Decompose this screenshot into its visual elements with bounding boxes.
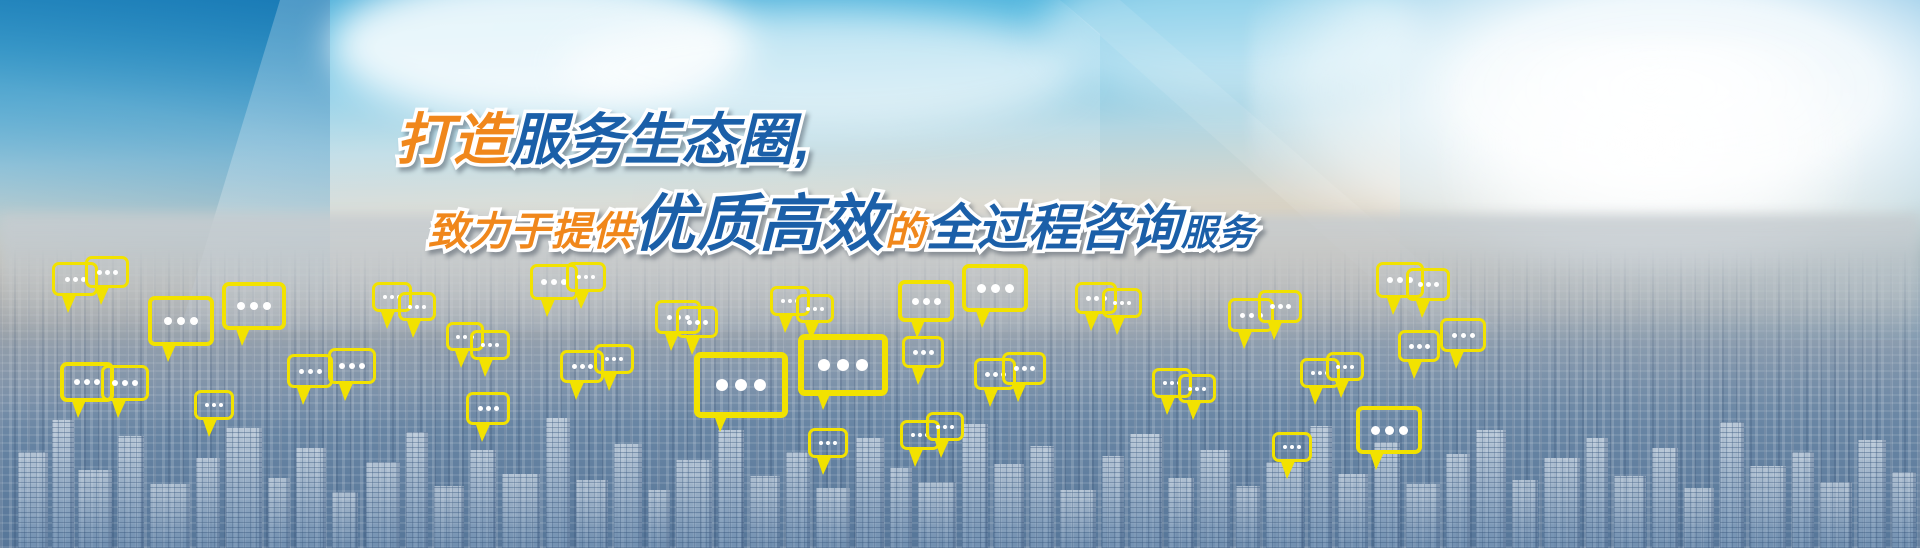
- speech-bubble-dot: [97, 270, 102, 275]
- speech-bubble-icon: [560, 350, 598, 377]
- speech-bubble-dot: [612, 357, 616, 361]
- speech-bubble-dot: [1278, 304, 1283, 309]
- speech-bubble-icon: [1440, 318, 1480, 346]
- building: [816, 488, 850, 548]
- speech-bubble-icon: [566, 262, 600, 286]
- building: [150, 484, 190, 548]
- speech-bubble-body: [962, 264, 1028, 312]
- speech-bubble-dot: [936, 425, 940, 429]
- speech-bubble-dot: [572, 364, 577, 369]
- speech-bubble-dot: [1022, 366, 1027, 371]
- speech-bubble-dot: [383, 295, 387, 299]
- speech-bubble-dot: [349, 363, 355, 369]
- speech-bubble-dot: [94, 379, 100, 385]
- speech-bubble-dot: [1409, 344, 1414, 349]
- building: [406, 432, 428, 548]
- speech-bubble-dot: [820, 307, 824, 311]
- building: [78, 470, 112, 548]
- speech-bubble-dot: [408, 305, 412, 309]
- speech-bubble-body: [1398, 330, 1440, 362]
- speech-bubble-dot: [754, 379, 766, 391]
- speech-bubble-icon: [328, 348, 370, 378]
- speech-bubble-icon: [1178, 374, 1210, 397]
- speech-bubble-body: [85, 256, 129, 288]
- speech-bubble-icon: [148, 296, 206, 338]
- speech-bubble-dot: [716, 379, 728, 391]
- building: [1792, 452, 1814, 548]
- headline-run: 致力于提供: [428, 212, 633, 252]
- headline-run: 服务生态圈,: [510, 112, 812, 168]
- speech-bubble-icon: [1102, 288, 1136, 312]
- speech-bubble-icon: [60, 362, 106, 394]
- building: [1446, 454, 1470, 548]
- building: [332, 492, 358, 548]
- speech-bubble-dot: [212, 403, 216, 407]
- building: [1544, 458, 1580, 548]
- speech-bubble-dot: [1005, 284, 1014, 293]
- building: [1406, 484, 1440, 548]
- speech-bubble-dot: [1249, 313, 1254, 318]
- building: [1586, 438, 1608, 548]
- speech-bubble-dot: [1336, 365, 1340, 369]
- speech-bubble-body: [926, 412, 964, 441]
- speech-bubble-body: [1102, 288, 1142, 318]
- speech-bubble-icon: [222, 282, 278, 322]
- speech-bubble-dot: [263, 302, 271, 310]
- building: [676, 460, 712, 548]
- building: [434, 486, 464, 548]
- speech-bubble-dot: [308, 369, 313, 374]
- speech-bubble-icon: [1258, 290, 1296, 317]
- speech-bubble-dot: [1399, 426, 1408, 435]
- speech-bubble-dot: [1371, 426, 1380, 435]
- speech-bubble-dot: [781, 299, 785, 303]
- speech-bubble-dot: [1434, 282, 1439, 287]
- speech-bubble-dot: [486, 406, 491, 411]
- speech-bubble-icon: [85, 256, 123, 282]
- building: [1750, 466, 1786, 548]
- speech-bubble-body: [594, 344, 634, 374]
- speech-bubble-dot: [463, 335, 467, 339]
- speech-bubble-dot: [299, 369, 304, 374]
- speech-bubble-icon: [1272, 432, 1306, 456]
- speech-bubble-dot: [1426, 282, 1431, 287]
- building: [856, 438, 884, 548]
- speech-bubble-body: [694, 352, 788, 418]
- speech-bubble-body: [398, 292, 436, 321]
- speech-bubble-icon: [594, 344, 628, 368]
- speech-bubble-dot: [605, 357, 609, 361]
- speech-bubble-dot: [912, 298, 919, 305]
- building: [648, 490, 670, 548]
- building: [962, 424, 988, 548]
- speech-bubble-dot: [488, 343, 492, 347]
- speech-bubble-dot: [494, 406, 499, 411]
- speech-bubble-body: [1326, 352, 1364, 381]
- speech-bubble-dot: [819, 441, 823, 445]
- speech-bubble-dot: [359, 363, 365, 369]
- speech-bubble-icon: [796, 294, 828, 317]
- speech-bubble-body: [798, 334, 888, 396]
- speech-bubble-body: [1356, 406, 1422, 454]
- speech-bubble-body: [902, 336, 944, 368]
- speech-bubble-dot: [826, 441, 830, 445]
- speech-bubble-dot: [985, 372, 990, 377]
- speech-bubble-body: [1272, 432, 1312, 462]
- speech-bubble-dot: [1297, 445, 1301, 449]
- speech-bubble-dot: [190, 317, 198, 325]
- building: [1338, 474, 1368, 548]
- speech-bubble-icon: [962, 264, 1020, 304]
- building: [502, 474, 540, 548]
- speech-bubble-dot: [943, 425, 947, 429]
- speech-bubble-dot: [132, 380, 138, 386]
- speech-bubble-dot: [1014, 366, 1019, 371]
- building: [1476, 430, 1506, 548]
- headline-run: 服务: [1181, 215, 1255, 251]
- speech-bubble-dot: [1120, 301, 1124, 305]
- speech-bubble-dot: [950, 425, 954, 429]
- speech-bubble-icon: [194, 390, 228, 414]
- speech-bubble-dot: [1397, 277, 1403, 283]
- speech-bubble-dot: [667, 315, 672, 320]
- speech-bubble-dot: [250, 302, 258, 310]
- building: [366, 462, 400, 548]
- speech-bubble-dot: [73, 277, 78, 282]
- speech-bubble-dot: [1425, 344, 1430, 349]
- speech-bubble-icon: [470, 330, 504, 354]
- speech-bubble-body: [287, 354, 333, 388]
- speech-bubble-icon: [101, 365, 143, 395]
- speech-bubble-body: [898, 280, 954, 322]
- speech-bubble-icon: [398, 292, 430, 315]
- speech-bubble-icon: [808, 428, 842, 452]
- speech-bubble-dot: [695, 320, 700, 325]
- building: [786, 452, 810, 548]
- speech-bubble-dot: [1461, 333, 1466, 338]
- speech-bubble-dot: [415, 305, 419, 309]
- speech-bubble-dot: [833, 441, 837, 445]
- speech-bubble-dot: [1470, 333, 1475, 338]
- speech-bubble-dot: [1094, 296, 1099, 301]
- speech-bubble-dot: [1387, 277, 1393, 283]
- speech-bubble-dot: [813, 307, 817, 311]
- building: [268, 478, 290, 548]
- speech-bubble-dot: [219, 403, 223, 407]
- building: [994, 464, 1024, 548]
- speech-bubble-dot: [1163, 381, 1167, 385]
- speech-bubble-dot: [105, 270, 110, 275]
- speech-bubble-body: [101, 365, 149, 401]
- speech-bubble-dot: [1113, 301, 1117, 305]
- building: [890, 468, 912, 548]
- speech-bubble-icon: [902, 336, 938, 362]
- speech-bubble-dot: [788, 299, 792, 303]
- speech-bubble-dot: [1350, 365, 1354, 369]
- speech-bubble-icon: [1398, 330, 1434, 356]
- speech-bubble-dot: [237, 302, 245, 310]
- building: [1236, 486, 1260, 548]
- building: [1130, 434, 1162, 548]
- speech-bubble-dot: [112, 380, 118, 386]
- speech-bubble-dot: [1086, 296, 1091, 301]
- speech-bubble-icon: [694, 352, 776, 406]
- building: [1652, 448, 1678, 548]
- speech-bubble-dot: [913, 350, 918, 355]
- headline-run: 优质高效: [633, 194, 885, 256]
- speech-bubble-dot: [1418, 282, 1423, 287]
- building: [1684, 488, 1714, 548]
- speech-bubble-dot: [551, 279, 557, 285]
- speech-bubble-body: [328, 348, 376, 384]
- headline-run: 全过程咨询: [926, 203, 1181, 253]
- speech-bubble-dot: [911, 433, 915, 437]
- speech-bubble-dot: [1170, 381, 1174, 385]
- building: [1858, 440, 1886, 548]
- speech-bubble-dot: [993, 372, 998, 377]
- speech-bubble-body: [194, 390, 234, 420]
- speech-bubble-icon: [898, 280, 946, 314]
- banner-root: 打造服务生态圈, 致力于提供优质高效的全过程咨询服务: [0, 0, 1920, 548]
- speech-bubble-dot: [1343, 365, 1347, 369]
- building: [1892, 472, 1916, 548]
- speech-bubble-dot: [481, 343, 485, 347]
- speech-bubble-dot: [591, 275, 595, 279]
- speech-bubble-dot: [856, 359, 868, 371]
- building: [576, 480, 608, 548]
- building: [226, 428, 262, 548]
- speech-bubble-dot: [619, 357, 623, 361]
- headline-run: 的: [885, 212, 926, 252]
- building: [1168, 478, 1194, 548]
- building: [52, 420, 74, 548]
- building: [1310, 426, 1332, 548]
- speech-bubble-dot: [205, 403, 209, 407]
- speech-bubble-dot: [818, 359, 830, 371]
- speech-bubble-dot: [1030, 366, 1035, 371]
- speech-bubble-dot: [1202, 387, 1206, 391]
- building: [614, 444, 642, 548]
- speech-bubble-body: [1002, 352, 1046, 385]
- speech-bubble-dot: [495, 343, 499, 347]
- building: [546, 418, 570, 548]
- speech-bubble-body: [466, 392, 510, 425]
- building: [1820, 482, 1852, 548]
- speech-bubble-dot: [584, 275, 588, 279]
- speech-bubble-dot: [339, 363, 345, 369]
- speech-bubble-dot: [390, 295, 394, 299]
- speech-bubble-icon: [1326, 352, 1358, 375]
- speech-bubble-body: [808, 428, 848, 458]
- speech-bubble-dot: [122, 380, 128, 386]
- speech-bubble-dot: [934, 298, 941, 305]
- speech-bubble-dot: [1385, 426, 1394, 435]
- speech-bubble-body: [1258, 290, 1302, 323]
- speech-bubble-dot: [1195, 387, 1199, 391]
- speech-bubble-dot: [456, 335, 460, 339]
- speech-bubble-dot: [541, 279, 547, 285]
- building: [296, 448, 326, 548]
- speech-bubble-dot: [923, 298, 930, 305]
- speech-bubble-dot: [806, 307, 810, 311]
- speech-bubble-dot: [1127, 301, 1131, 305]
- speech-bubble-icon: [287, 354, 327, 382]
- speech-bubble-body: [222, 282, 286, 330]
- page-title: 打造服务生态圈, 致力于提供优质高效的全过程咨询服务: [380, 112, 1140, 256]
- speech-bubble-dot: [1452, 333, 1457, 338]
- speech-bubble-dot: [991, 284, 1000, 293]
- speech-bubble-dot: [65, 277, 70, 282]
- speech-bubble-dot: [837, 359, 849, 371]
- speech-bubble-body: [1440, 318, 1486, 352]
- speech-bubble-dot: [703, 320, 708, 325]
- headline-line-1: 打造服务生态圈,: [380, 112, 1140, 168]
- building: [118, 436, 144, 548]
- speech-bubble-dot: [74, 379, 80, 385]
- speech-bubble-icon: [1406, 268, 1444, 295]
- speech-bubble-icon: [926, 412, 958, 435]
- building: [1614, 476, 1646, 548]
- speech-bubble-icon: [798, 334, 876, 384]
- speech-bubble-dot: [1240, 313, 1245, 318]
- speech-bubble-body: [470, 330, 510, 360]
- building: [918, 482, 956, 548]
- speech-bubble-dot: [422, 305, 426, 309]
- speech-bubble-dot: [577, 275, 581, 279]
- headline-line-2: 致力于提供优质高效的全过程咨询服务: [380, 194, 1140, 256]
- building: [1512, 480, 1538, 548]
- building: [18, 452, 48, 548]
- speech-bubble-icon: [676, 306, 712, 332]
- speech-bubble-body: [796, 294, 834, 323]
- speech-bubble-body: [148, 296, 214, 346]
- speech-bubble-body: [1406, 268, 1450, 301]
- speech-bubble-body: [566, 262, 606, 292]
- building: [1060, 490, 1096, 548]
- speech-bubble-icon: [1356, 406, 1414, 446]
- speech-bubble-dot: [164, 317, 172, 325]
- speech-bubble-body: [1178, 374, 1216, 403]
- building: [470, 450, 496, 548]
- speech-bubble-dot: [687, 320, 692, 325]
- speech-bubble-dot: [1318, 371, 1322, 375]
- speech-bubble-dot: [1290, 445, 1294, 449]
- speech-bubble-dot: [929, 350, 934, 355]
- speech-bubble-dot: [1286, 304, 1291, 309]
- building: [196, 458, 220, 548]
- speech-bubble-dot: [735, 379, 747, 391]
- speech-bubble-icon: [466, 392, 504, 419]
- speech-bubble-body: [676, 306, 718, 338]
- speech-bubble-dot: [113, 270, 118, 275]
- speech-bubble-dot: [1270, 304, 1275, 309]
- speech-bubble-dot: [177, 317, 185, 325]
- speech-bubble-dot: [921, 350, 926, 355]
- building: [1030, 446, 1054, 548]
- speech-bubble-dot: [1311, 371, 1315, 375]
- speech-bubble-dot: [1283, 445, 1287, 449]
- speech-bubble-dot: [478, 406, 483, 411]
- speech-bubble-dot: [317, 369, 322, 374]
- speech-bubble-dot: [588, 364, 593, 369]
- speech-bubble-icon: [1002, 352, 1040, 379]
- speech-bubble-dot: [1188, 387, 1192, 391]
- building: [1200, 450, 1230, 548]
- building: [718, 430, 744, 548]
- speech-bubble-dot: [84, 379, 90, 385]
- speech-bubble-dot: [1417, 344, 1422, 349]
- building: [1102, 456, 1124, 548]
- headline-run: 打造: [396, 112, 510, 168]
- speech-bubble-dot: [977, 284, 986, 293]
- speech-bubble-dot: [580, 364, 585, 369]
- building: [1720, 422, 1744, 548]
- speech-bubble-dot: [918, 433, 922, 437]
- building: [750, 476, 780, 548]
